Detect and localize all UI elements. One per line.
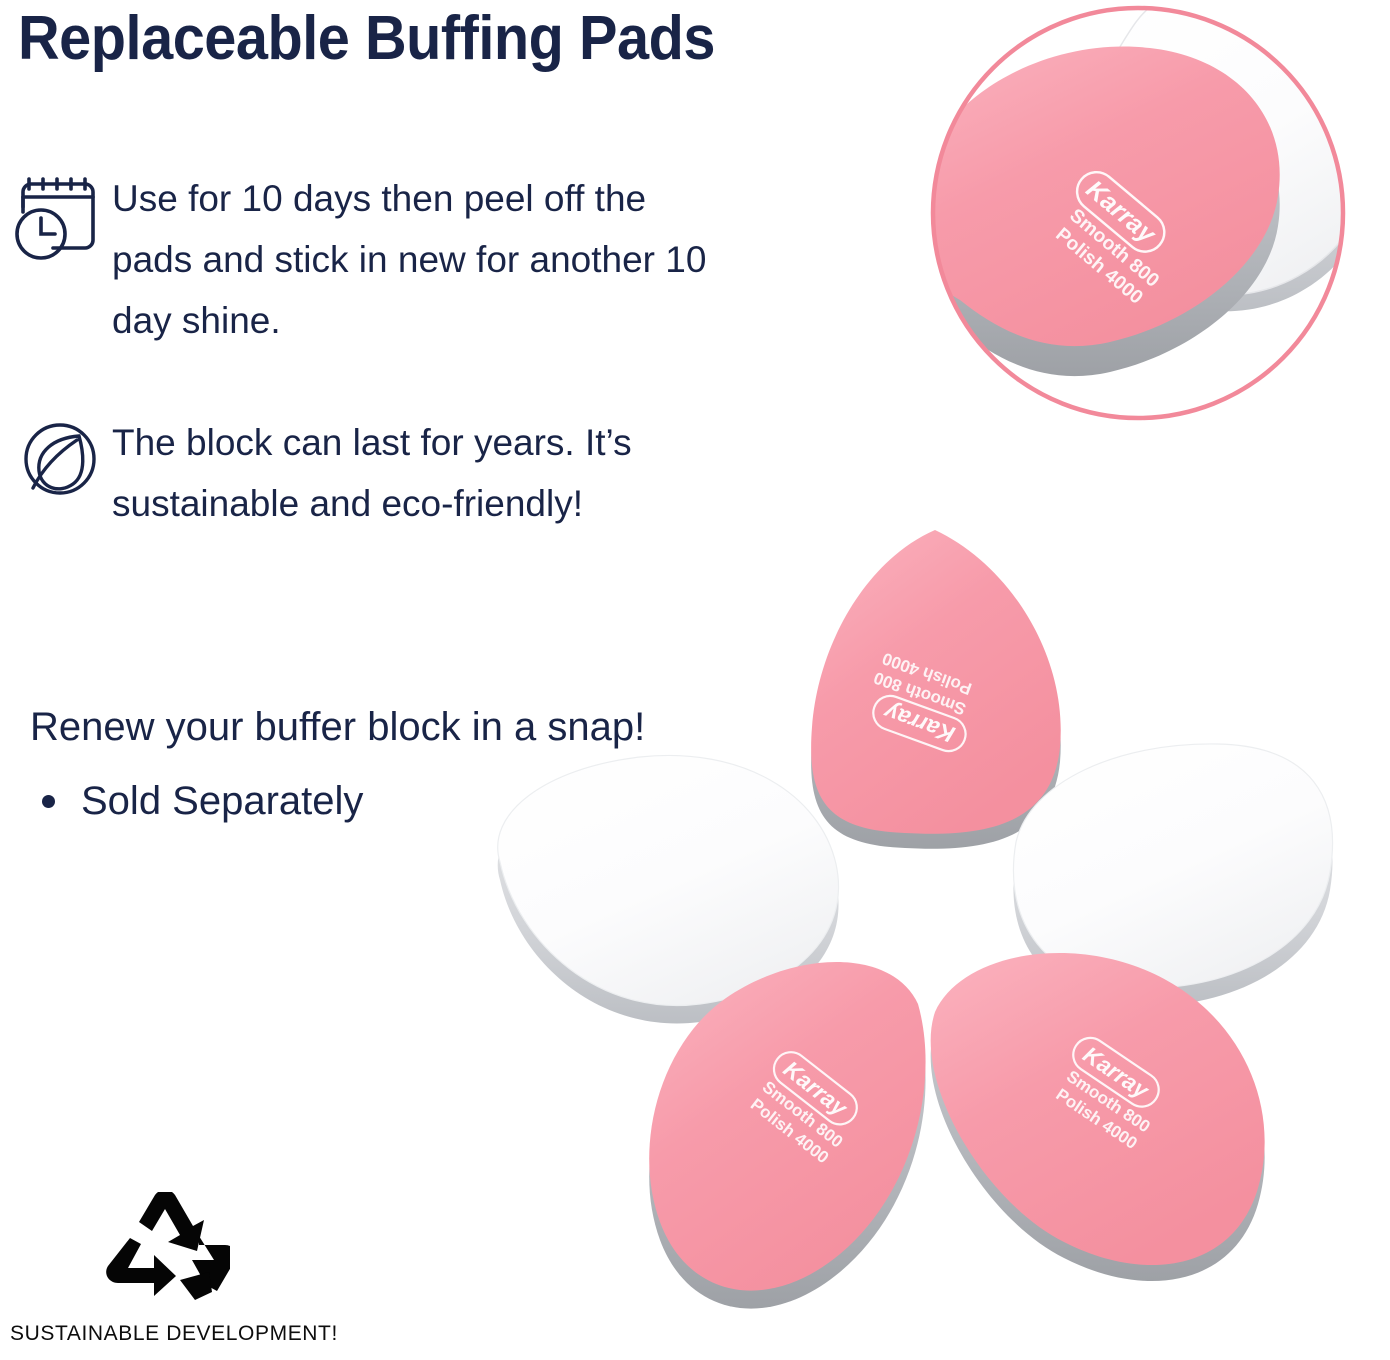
list-item-sold-separately: Sold Separately: [42, 777, 363, 825]
sustainable-development-label: SUSTAINABLE DEVELOPMENT!: [10, 1322, 338, 1346]
grit-line-2: Polish 4000: [1051, 223, 1147, 308]
recycle-icon: [100, 1192, 230, 1310]
pad-bottom-right-pink: Karray Smooth 800 Polish 4000: [931, 953, 1265, 1281]
callout-pink-pad: Karray Smooth 800 Polish 4000: [912, 47, 1280, 377]
pad-branding: Karray Smooth 800 Polish 4000: [1039, 164, 1189, 309]
grit-line-2: Polish 4000: [747, 1095, 832, 1168]
grit-line-1: Smooth 800: [1063, 1067, 1154, 1137]
callout-ring: [933, 8, 1343, 418]
grit-line-2: Polish 4000: [1052, 1085, 1140, 1153]
brand-text: Karray: [1078, 1041, 1154, 1104]
feature-text-duration: Use for 10 days then peel off the pads a…: [112, 168, 712, 351]
grit-line-1: Smooth 800: [1065, 204, 1163, 291]
brand-text: Karray: [1081, 175, 1162, 250]
leaf-circle-icon: [8, 412, 112, 502]
pad-br-branding: Karray Smooth 800 Polish 4000: [1043, 1031, 1174, 1153]
page-title: Replaceable Buffing Pads: [18, 2, 715, 76]
grit-line-2: Polish 4000: [880, 649, 974, 699]
pad-right-white: [1013, 744, 1332, 1006]
pad-bottom-left-pink: Karray Smooth 800 Polish 4000: [649, 962, 925, 1309]
magnified-circle-callout: Karray Smooth 800 Polish 4000: [912, 5, 1372, 418]
renew-headline: Renew your buffer block in a snap!: [30, 702, 645, 752]
feature-row-sustainability: The block can last for years. It’s susta…: [8, 412, 712, 534]
callout-white-block: [1081, 5, 1371, 311]
infographic-page: Replaceable Buffing Pads: [0, 0, 1390, 1360]
calendar-clock-icon: [8, 168, 112, 264]
brand-text: Karray: [880, 698, 959, 748]
pad-top-pink: Karray Smooth 800 Polish 4000: [811, 530, 1061, 849]
feature-row-duration: Use for 10 days then peel off the pads a…: [8, 168, 712, 351]
bullet-dot-icon: [42, 795, 55, 808]
brand-text: Karray: [779, 1056, 853, 1122]
pad-left-white: [498, 755, 839, 1023]
feature-text-sustainability: The block can last for years. It’s susta…: [112, 412, 712, 534]
pad-bl-branding: Karray Smooth 800 Polish 4000: [741, 1045, 868, 1168]
pad-top-branding: Karray Smooth 800 Polish 4000: [859, 648, 985, 756]
grit-line-1: Smooth 800: [759, 1077, 847, 1151]
bullet-label: Sold Separately: [81, 777, 363, 825]
grit-line-1: Smooth 800: [871, 668, 968, 719]
